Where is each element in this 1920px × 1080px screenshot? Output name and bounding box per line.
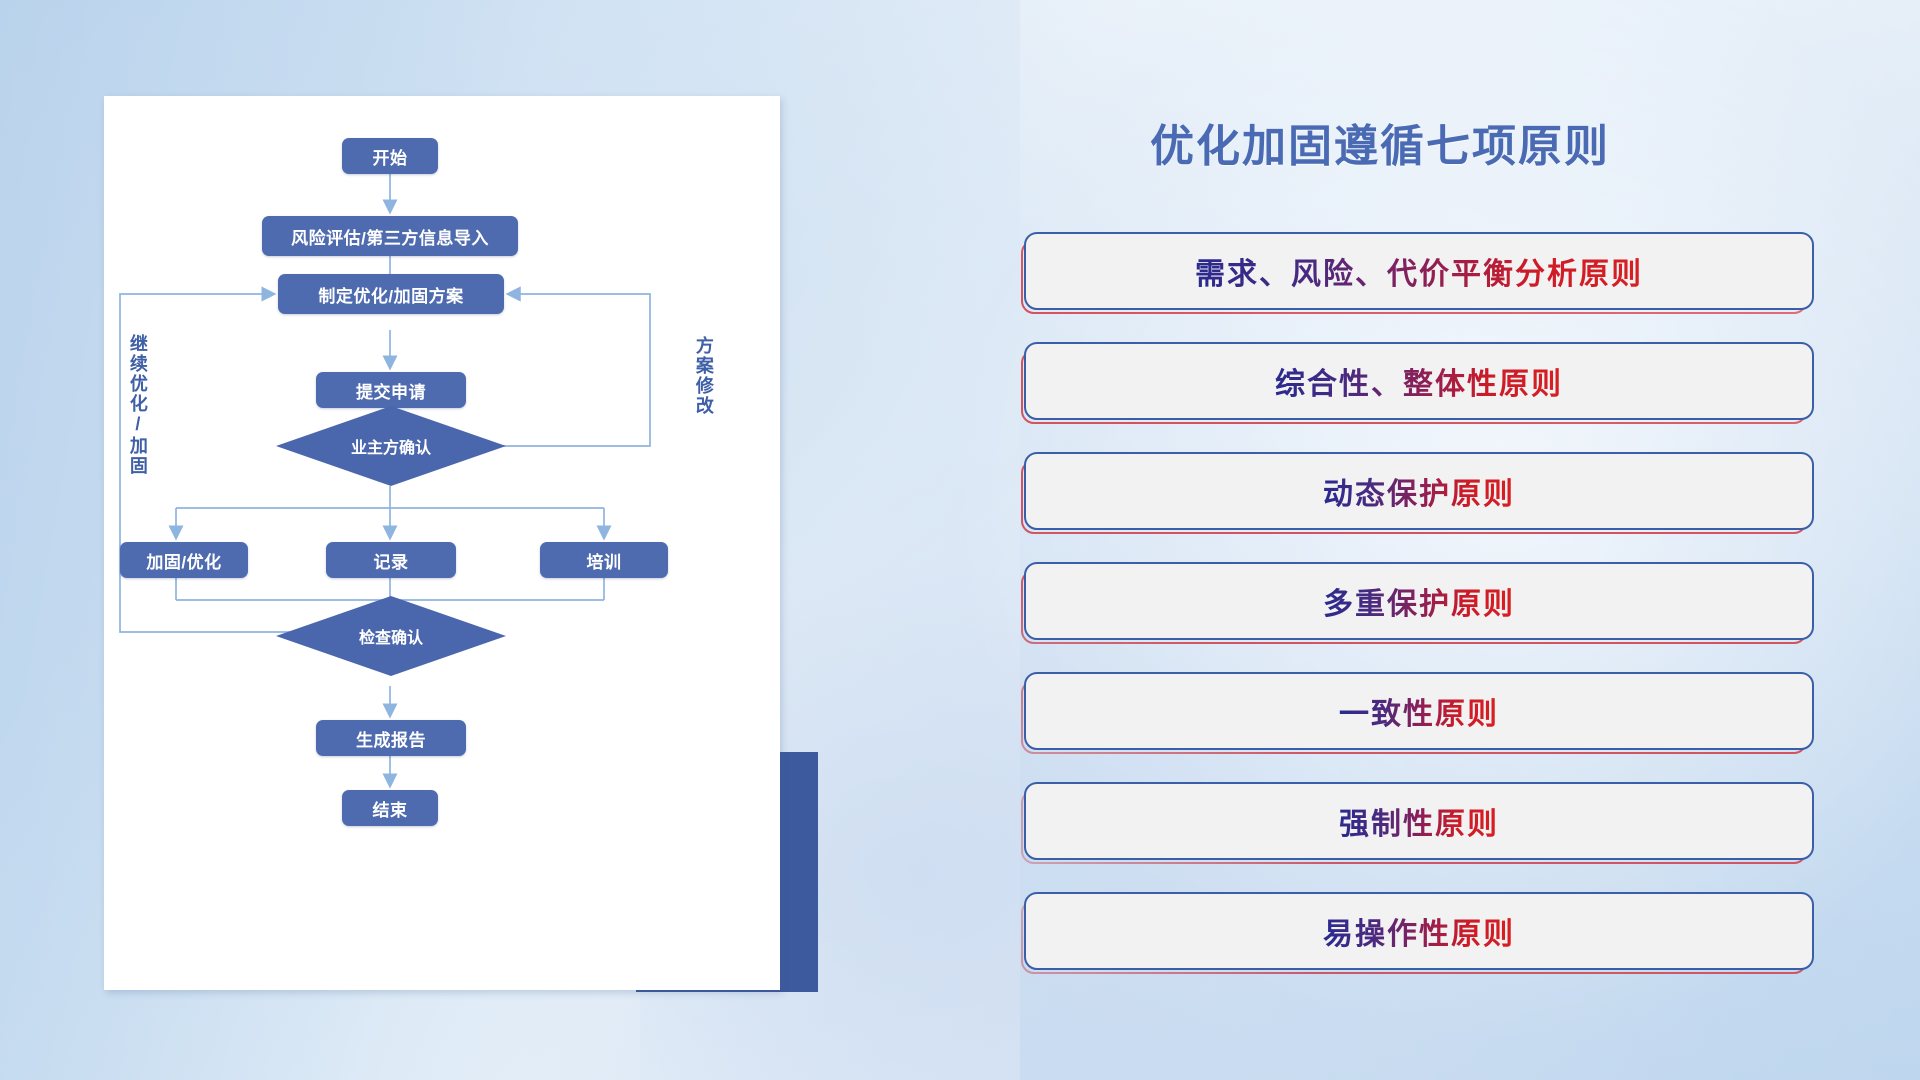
flow-node-end[interactable]: 结束: [342, 790, 438, 826]
principle-card-label: 强制性原则: [1339, 799, 1499, 843]
flow-node-start-label: 开始: [373, 144, 408, 169]
flow-node-risk-assessment[interactable]: 风险评估/第三方信息导入: [262, 216, 518, 256]
flow-node-submit[interactable]: 提交申请: [316, 372, 466, 408]
principle-card-label: 综合性、整体性原则: [1275, 359, 1563, 403]
flow-node-end-label: 结束: [373, 796, 408, 821]
flow-node-submit-label: 提交申请: [356, 378, 426, 403]
principle-card[interactable]: 综合性、整体性原则: [1024, 342, 1814, 420]
page-title: 优化加固遵循七项原则: [1150, 110, 1610, 174]
principles-pane: 优化加固遵循七项原则 需求、风险、代价平衡分析原则 综合性、整体性原则 动态保护…: [1000, 0, 1920, 1080]
principle-card[interactable]: 易操作性原则: [1024, 892, 1814, 970]
flow-node-record[interactable]: 记录: [326, 542, 456, 578]
flow-edge-label-right-loop: 方案修改: [694, 336, 713, 416]
flowchart-card: 开始 风险评估/第三方信息导入 制定优化/加固方案 提交申请 业主方确认 加固/…: [104, 96, 780, 990]
principle-card-label: 易操作性原则: [1323, 909, 1515, 953]
flow-node-training[interactable]: 培训: [540, 542, 668, 578]
flow-node-plan-label: 制定优化/加固方案: [318, 282, 463, 307]
principle-card-label: 多重保护原则: [1323, 579, 1515, 623]
flow-node-record-label: 记录: [374, 548, 409, 573]
flow-node-training-label: 培训: [587, 548, 622, 573]
principle-card-label: 一致性原则: [1339, 689, 1499, 733]
principle-card[interactable]: 需求、风险、代价平衡分析原则: [1024, 232, 1814, 310]
principle-card-label: 动态保护原则: [1323, 469, 1515, 513]
principle-card[interactable]: 动态保护原则: [1024, 452, 1814, 530]
flow-node-report[interactable]: 生成报告: [316, 720, 466, 756]
flow-edge-label-left-loop: 继续优化/加固: [128, 334, 147, 476]
flow-node-reinforce-label: 加固/优化: [146, 548, 221, 573]
flow-node-risk-assessment-label: 风险评估/第三方信息导入: [291, 224, 489, 249]
flow-node-plan[interactable]: 制定优化/加固方案: [278, 274, 504, 314]
flow-node-reinforce[interactable]: 加固/优化: [120, 542, 248, 578]
flow-node-inspect-confirm-label: 检查确认: [359, 624, 423, 648]
flow-node-owner-confirm-label: 业主方确认: [351, 434, 431, 458]
principle-card-label: 需求、风险、代价平衡分析原则: [1195, 249, 1643, 293]
flow-node-start[interactable]: 开始: [342, 138, 438, 174]
principle-card[interactable]: 一致性原则: [1024, 672, 1814, 750]
flow-node-report-label: 生成报告: [356, 726, 426, 751]
principle-card[interactable]: 强制性原则: [1024, 782, 1814, 860]
principle-card[interactable]: 多重保护原则: [1024, 562, 1814, 640]
principle-card-list: 需求、风险、代价平衡分析原则 综合性、整体性原则 动态保护原则 多重保护原则 一…: [1024, 232, 1814, 1002]
